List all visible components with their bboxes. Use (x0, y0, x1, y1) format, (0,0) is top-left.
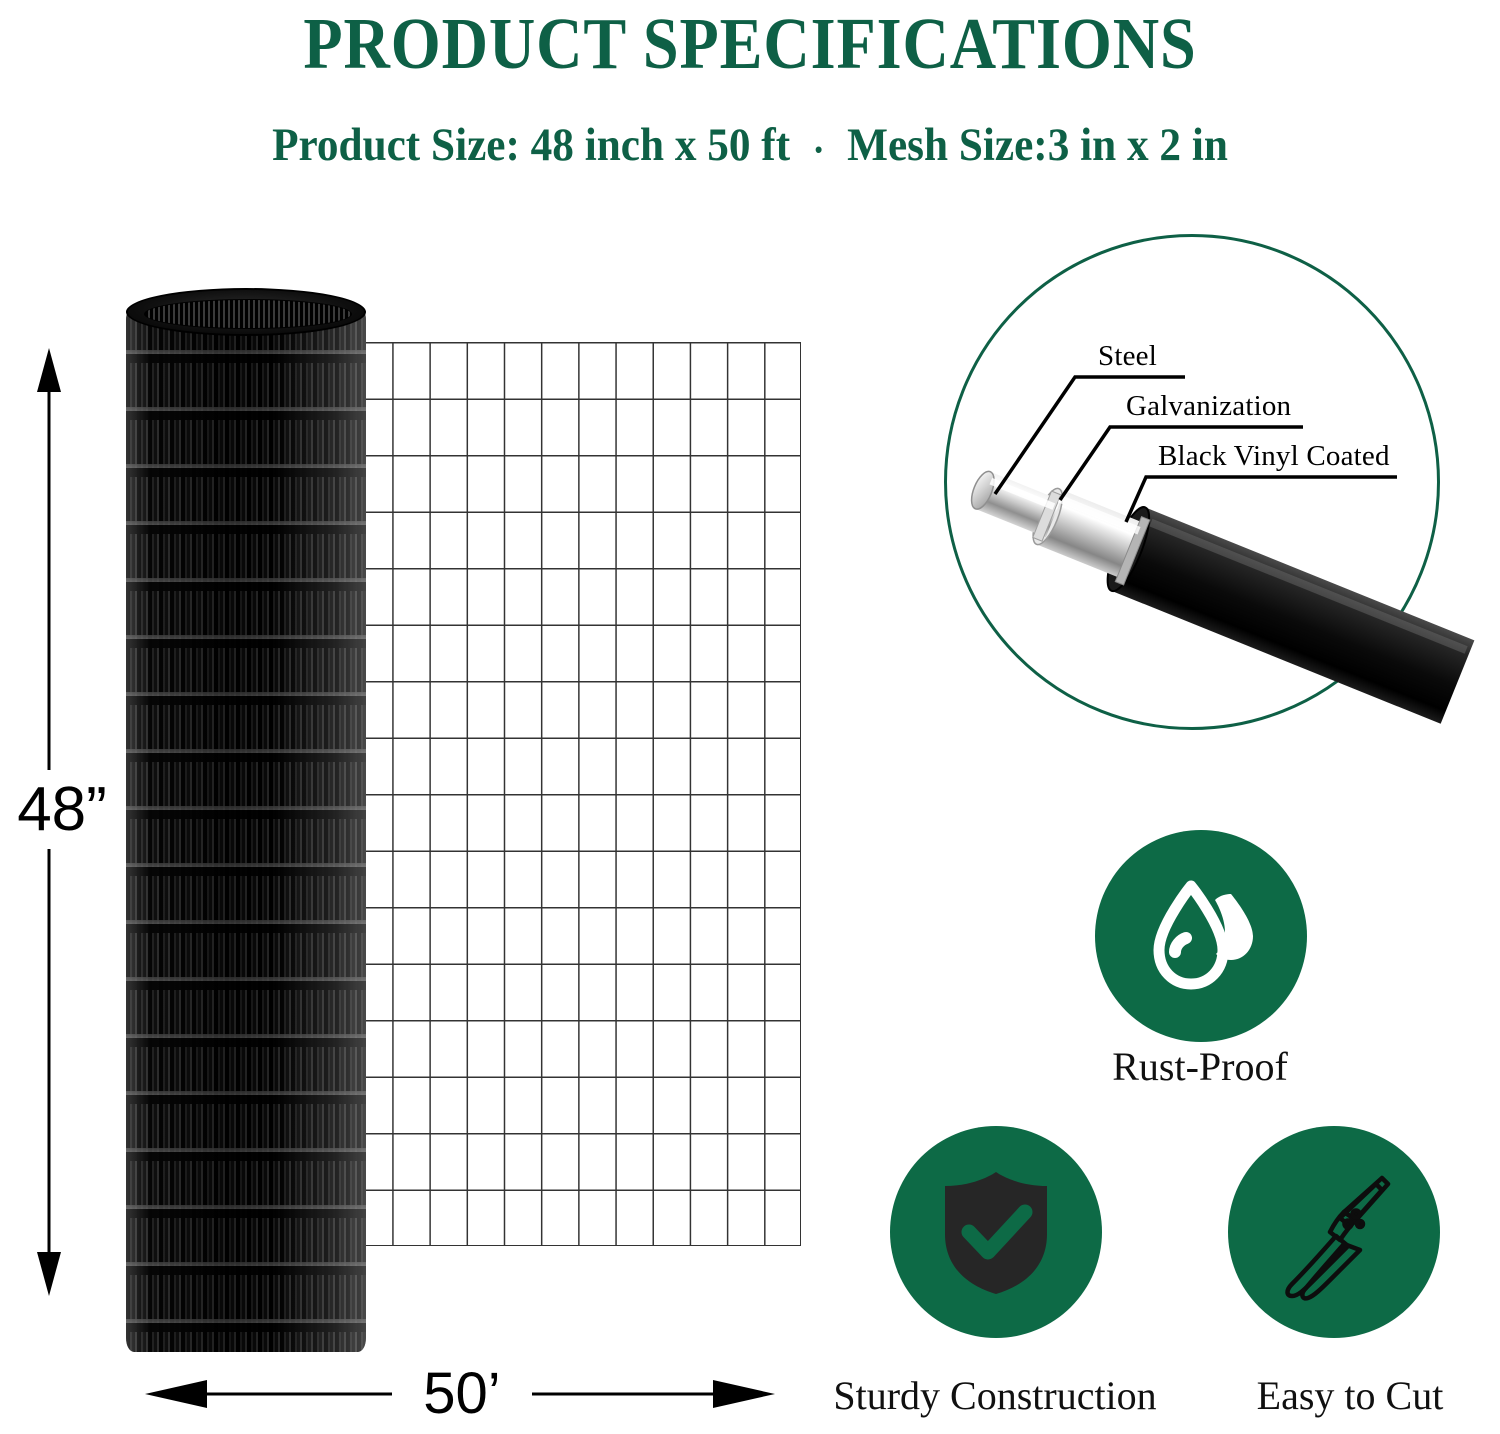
product-illustration (0, 230, 860, 1434)
feature-badge-rust-proof (1095, 830, 1307, 1042)
width-dimension-label: 50’ (392, 1360, 532, 1427)
height-dimension-label: 48” (0, 770, 124, 849)
shield-check-icon (933, 1166, 1059, 1298)
leader-line-vinyl (1126, 477, 1397, 522)
water-droplets-icon (1137, 872, 1265, 1000)
wire-layer-label-galvanization: Galvanization (1126, 390, 1291, 423)
roll-top-ellipse (126, 288, 366, 336)
wire-construction-diagram: Steel Galvanization Black Vinyl Coated (930, 222, 1470, 742)
pliers-icon (1264, 1162, 1404, 1302)
wire-mesh-grid (355, 342, 801, 1246)
spec-separator-dot: · (790, 126, 847, 173)
wire-cross-section-graphic (930, 222, 1470, 742)
feature-label-easy-to-cut: Easy to Cut (1200, 1372, 1500, 1419)
wire-layer-label-black-vinyl-coated: Black Vinyl Coated (1158, 440, 1390, 473)
product-size-text: Product Size: 48 inch x 50 ft (272, 118, 790, 172)
roll-body (126, 306, 366, 1352)
feature-label-rust-proof: Rust-Proof (1000, 1043, 1400, 1090)
page-title: PRODUCT SPECIFICATIONS (90, 2, 1410, 86)
roll-top-inner-coil (144, 299, 352, 329)
feature-label-sturdy-construction: Sturdy Construction (760, 1372, 1230, 1419)
wire-mesh-roll (126, 288, 366, 1358)
product-specifications-infographic: PRODUCT SPECIFICATIONS Product Size: 48 … (0, 0, 1500, 1434)
feature-badge-sturdy-construction (890, 1126, 1102, 1338)
feature-badge-easy-to-cut (1228, 1126, 1440, 1338)
mesh-size-text: Mesh Size:3 in x 2 in (847, 118, 1228, 172)
wire-layer-label-steel: Steel (1098, 340, 1157, 373)
spec-summary-line: Product Size: 48 inch x 50 ft·Mesh Size:… (60, 118, 1440, 173)
